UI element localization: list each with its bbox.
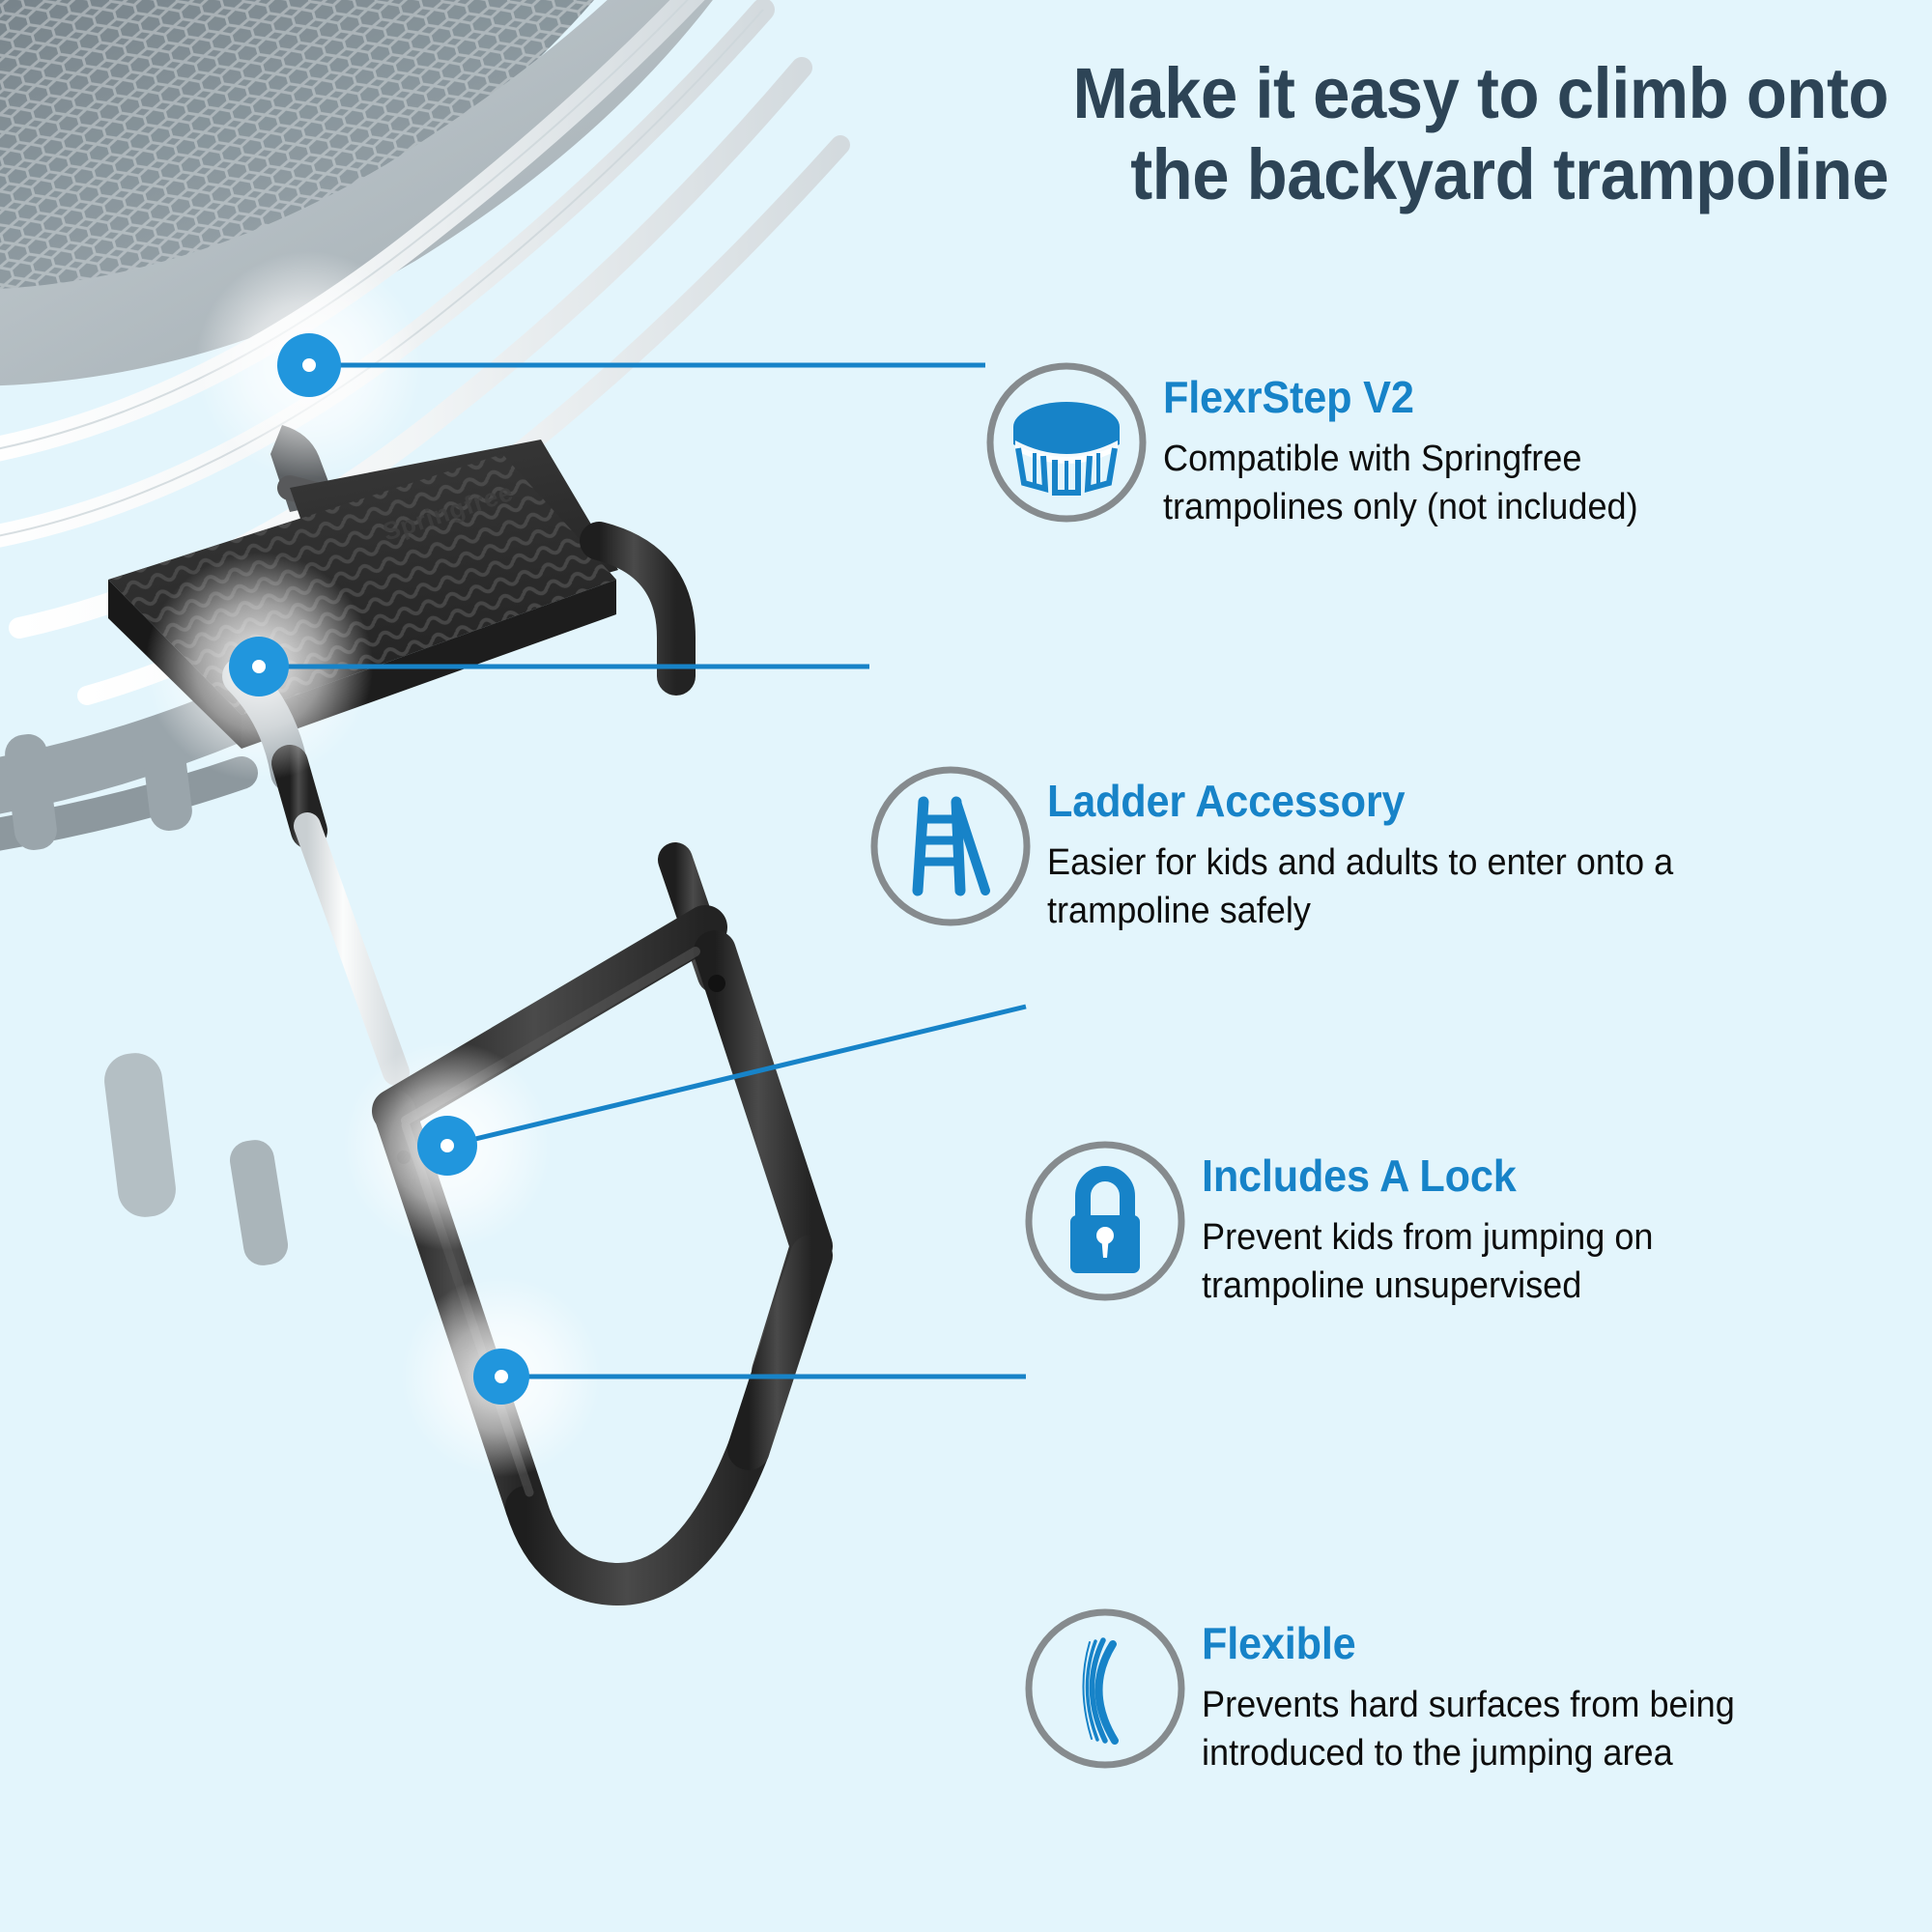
- callout-halo: [401, 1276, 602, 1477]
- feature-title: Ladder Accessory: [1047, 779, 1666, 823]
- feature-title: Flexible: [1202, 1621, 1729, 1665]
- lower-frame: [394, 927, 811, 1584]
- page-title: Make it easy to climb onto the backyard …: [923, 53, 1889, 214]
- feature-description: Easier for kids and adults to enter onto…: [1047, 838, 1673, 935]
- feature-includes-a-lock: Includes A Lock Prevent kids from jumpin…: [1022, 1138, 1677, 1310]
- feature-description: Prevents hard surfaces from being introd…: [1202, 1681, 1735, 1777]
- trampoline-icon: [983, 359, 1150, 526]
- flex-arcs-icon: [1022, 1605, 1188, 1772]
- feature-ladder-accessory: Ladder Accessory Easier for kids and adu…: [867, 763, 1706, 935]
- page-title-line-1: Make it easy to climb onto: [923, 53, 1889, 134]
- feature-flexrstep: FlexrStep V2 Compatible with Springfree …: [983, 359, 1663, 531]
- product-photo: Springfree: [0, 0, 1024, 1932]
- page-title-line-2: the backyard trampoline: [923, 134, 1889, 215]
- callout-halo: [343, 1041, 552, 1250]
- feature-description: Compatible with Springfree trampolines o…: [1163, 435, 1638, 531]
- feature-flexible: Flexible Prevents hard surfaces from bei…: [1022, 1605, 1763, 1777]
- ladder-icon: [867, 763, 1034, 929]
- lock-icon: [1022, 1138, 1188, 1304]
- callout-halo: [145, 553, 373, 781]
- infographic-canvas: Springfree: [0, 0, 1932, 1932]
- feature-title: FlexrStep V2: [1163, 375, 1633, 419]
- feature-description: Prevent kids from jumping on trampoline …: [1202, 1213, 1654, 1310]
- callout-halo: [195, 251, 423, 479]
- feature-title: Includes A Lock: [1202, 1153, 1649, 1198]
- joint-bolt: [708, 975, 725, 992]
